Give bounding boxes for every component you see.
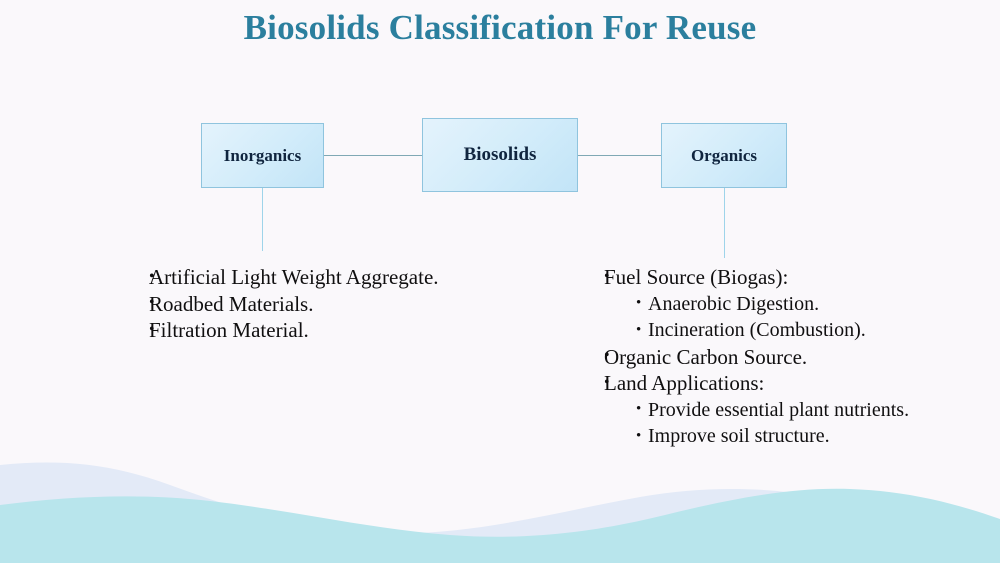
sub-list-item-text: Incineration (Combustion). <box>648 319 866 341</box>
sub-list-item: Incineration (Combustion). <box>636 317 909 344</box>
list-item: Roadbed Materials. <box>149 291 439 318</box>
diagram-node-inorganics-label: Inorganics <box>224 146 301 166</box>
connector-inorganics-to-list <box>262 188 263 251</box>
sub-list-item-text: Improve soil structure. <box>648 425 830 447</box>
list-item: Fuel Source (Biogas): Anaerobic Digestio… <box>604 264 909 344</box>
sub-list: Anaerobic Digestion. Incineration (Combu… <box>604 291 909 344</box>
sub-list-item-text: Anaerobic Digestion. <box>648 293 819 315</box>
list-item-text: Organic Carbon Source. <box>604 345 807 369</box>
decorative-wave-graphic <box>0 433 1000 563</box>
sub-list-item: Provide essential plant nutrients. <box>636 397 909 424</box>
list-item: Artificial Light Weight Aggregate. <box>149 264 439 291</box>
page-title: Biosolids Classification For Reuse <box>0 8 1000 48</box>
diagram-node-organics-label: Organics <box>691 146 757 166</box>
diagram-node-biosolids[interactable]: Biosolids <box>422 118 578 192</box>
list-item: Organic Carbon Source. <box>604 344 909 371</box>
list-item: Land Applications: Provide essential pla… <box>604 370 909 450</box>
diagram-node-inorganics[interactable]: Inorganics <box>201 123 324 188</box>
sub-list-item: Improve soil structure. <box>636 423 909 450</box>
list-item-text: Fuel Source (Biogas): <box>604 265 788 289</box>
connector-organics-to-list <box>724 188 725 258</box>
organics-bullet-list: Fuel Source (Biogas): Anaerobic Digestio… <box>592 264 909 450</box>
list-item-text: Roadbed Materials. <box>149 292 313 316</box>
diagram-node-organics[interactable]: Organics <box>661 123 787 188</box>
connector-biosolids-to-organics <box>578 155 662 156</box>
sub-list: Provide essential plant nutrients. Impro… <box>604 397 909 450</box>
connector-biosolids-to-inorganics <box>324 155 423 156</box>
slide-canvas: Biosolids Classification For Reuse Inorg… <box>0 0 1000 563</box>
sub-list-item: Anaerobic Digestion. <box>636 291 909 318</box>
inorganics-bullet-list: Artificial Light Weight Aggregate. Roadb… <box>137 264 439 344</box>
wave-back-shape <box>0 462 1000 563</box>
list-item-text: Filtration Material. <box>149 318 309 342</box>
wave-front-shape <box>0 489 1000 563</box>
diagram-node-biosolids-label: Biosolids <box>464 144 537 166</box>
list-item: Filtration Material. <box>149 317 439 344</box>
sub-list-item-text: Provide essential plant nutrients. <box>648 399 909 421</box>
list-item-text: Land Applications: <box>604 371 764 395</box>
list-item-text: Artificial Light Weight Aggregate. <box>149 265 439 289</box>
